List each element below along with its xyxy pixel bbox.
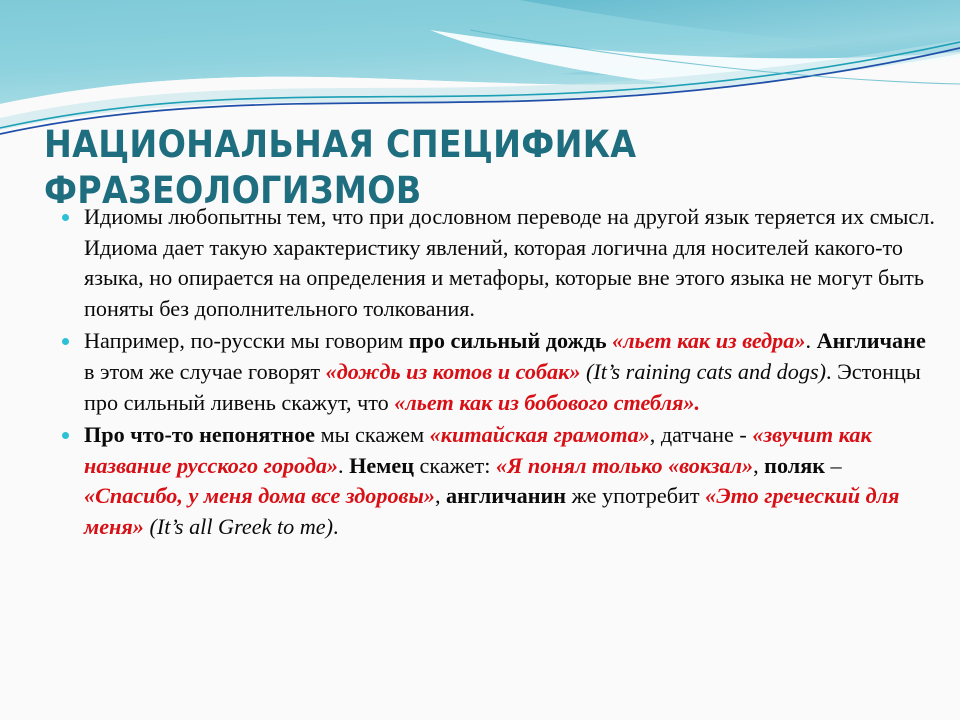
text-run: мы скажем [315, 422, 430, 447]
wave-shape-deep [520, 0, 960, 44]
wave-line-teal-upper [470, 30, 960, 84]
bullet-3-text: Про что-то непонятное мы скажем «китайск… [84, 420, 936, 542]
wave-shape-right [560, 30, 960, 75]
list-item-1: Идиомы любопытны тем, что при дословном … [56, 202, 936, 324]
bullet-dot-icon [62, 338, 69, 345]
wave-shape-base [0, 0, 960, 104]
bullet-list: Идиомы любопытны тем, что при дословном … [56, 202, 936, 545]
text-run: про сильный дождь [409, 328, 607, 353]
wave-shape-ribbon [0, 40, 960, 130]
text-run: в этом же случае говорят [84, 359, 326, 384]
text-run: скажет: [414, 453, 496, 478]
bullet-1-text: Идиомы любопытны тем, что при дословном … [84, 202, 936, 324]
text-run: Немец [349, 453, 414, 478]
text-run: Англичане [817, 328, 926, 353]
text-run: , датчане - [650, 422, 753, 447]
bullet-dot-icon [62, 432, 69, 439]
text-run: , [435, 483, 446, 508]
text-run: (It’s raining cats and dogs) [586, 359, 826, 384]
slide: НАЦИОНАЛЬНАЯ СПЕЦИФИКА ФРАЗЕОЛОГИЗМОВ Ид… [0, 0, 960, 720]
wave-line-teal [0, 42, 960, 128]
list-item-2: Например, по-русски мы говорим про сильн… [56, 326, 936, 418]
text-run: «китайская грамота» [430, 422, 650, 447]
text-run: – [825, 453, 842, 478]
text-run: же употребит [566, 483, 705, 508]
bullet-dot-icon [62, 214, 69, 221]
text-run: Про что-то непонятное [84, 422, 315, 447]
list-item-3: Про что-то непонятное мы скажем «китайск… [56, 420, 936, 542]
wave-shape-white-swoosh [430, 30, 960, 96]
text-run: , [753, 453, 764, 478]
bullet-2-text: Например, по-русски мы говорим про сильн… [84, 326, 936, 418]
text-run: . [333, 514, 339, 539]
text-run: (It’s all Greek to me) [149, 514, 333, 539]
text-run: «льет как из бобового стебля». [394, 390, 700, 415]
text-run: Например, по-русски мы говорим [84, 328, 409, 353]
text-run: «льет как из ведра» [612, 328, 805, 353]
text-run: Идиомы любопытны тем, что при дословном … [84, 204, 935, 321]
text-run: «дождь из котов и собак» [326, 359, 581, 384]
text-run: . [338, 453, 349, 478]
text-run: поляк [764, 453, 825, 478]
text-run: «Я понял только «вокзал» [496, 453, 753, 478]
text-run: англичанин [446, 483, 566, 508]
text-run: . [805, 328, 816, 353]
text-run: «Спасибо, у меня дома все здоровы» [84, 483, 435, 508]
